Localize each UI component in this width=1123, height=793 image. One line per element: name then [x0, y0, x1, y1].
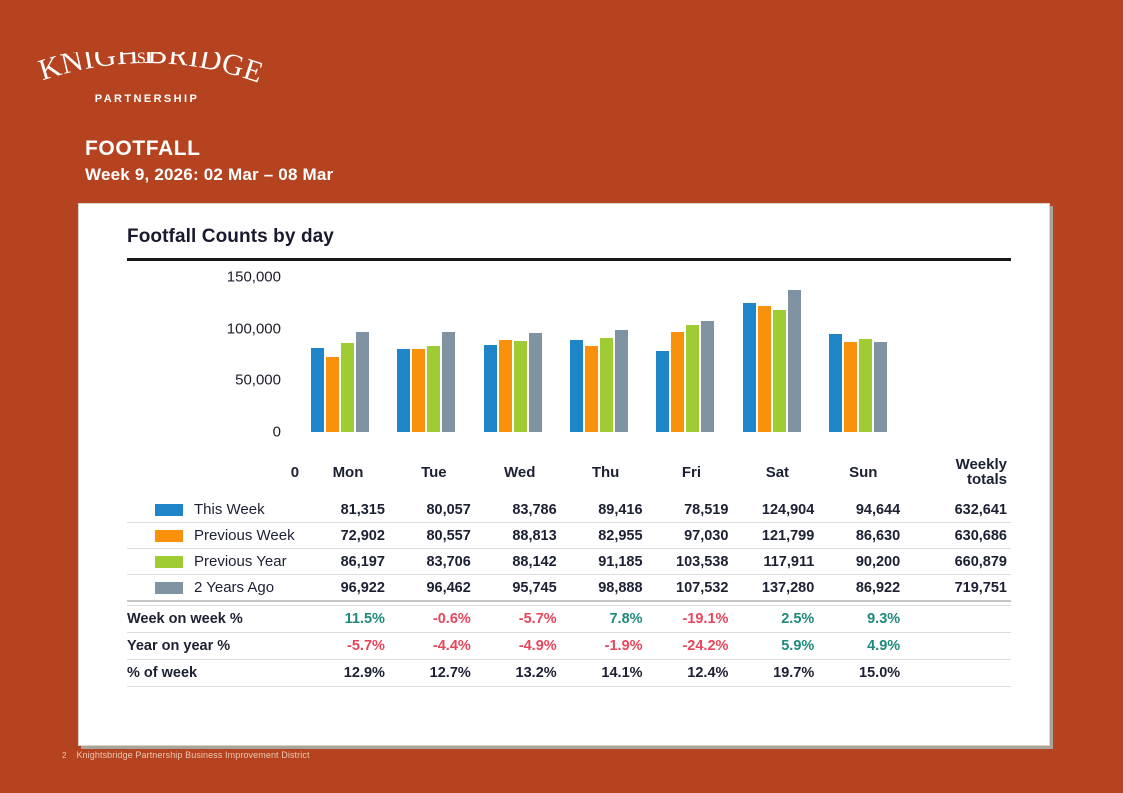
table-cell: 82,955: [563, 523, 649, 549]
column-header-thu: Thu: [563, 457, 649, 497]
table-cell-total: [906, 606, 1011, 633]
table-row: Week on week %11.5%-0.6%-5.7%7.8%-19.1%2…: [127, 606, 1011, 633]
table-cell: 2.5%: [734, 606, 820, 633]
table-cell: 9.3%: [820, 606, 906, 633]
page-title: FOOTFALL: [85, 136, 333, 162]
table-row: 2 Years Ago96,92296,46295,74598,888107,5…: [127, 575, 1011, 602]
svg-text:PARTNERSHIP: PARTNERSHIP: [95, 93, 199, 105]
table-header: 0MonTueWedThuFriSatSunWeeklytotals: [127, 457, 1011, 497]
page-subtitle: Week 9, 2026: 02 Mar – 08 Mar: [85, 163, 333, 187]
y-axis-tick: 0: [273, 424, 281, 441]
bar: [514, 341, 527, 432]
bar-group: [470, 277, 556, 432]
metric-label: Week on week %: [127, 606, 305, 633]
bar: [859, 339, 872, 432]
bar: [686, 325, 699, 432]
table-cell: 83,706: [391, 549, 477, 575]
column-header-mon: Mon: [305, 457, 391, 497]
legend-swatch-icon: [155, 556, 183, 568]
table-cell: 72,902: [305, 523, 391, 549]
table-bottom-rule: [127, 687, 1011, 692]
legend-label: This Week: [194, 501, 265, 518]
table-cell: 121,799: [734, 523, 820, 549]
legend-label: Previous Year: [194, 553, 287, 570]
bar-group: [383, 277, 469, 432]
legend-swatch-icon: [155, 582, 183, 594]
slide-heading: FOOTFALL Week 9, 2026: 02 Mar – 08 Mar: [85, 136, 333, 187]
table-cell: 90,200: [820, 549, 906, 575]
bar: [356, 332, 369, 432]
chart-title-rule: [127, 258, 1011, 261]
column-header-sat: Sat: [734, 457, 820, 497]
table-cell: 86,922: [820, 575, 906, 602]
table-cell: -4.4%: [391, 633, 477, 660]
column-header-weekly-totals: Weeklytotals: [906, 457, 1011, 497]
table-cell-total: 719,751: [906, 575, 1011, 602]
table-row: Previous Year86,19783,70688,14291,185103…: [127, 549, 1011, 575]
bar: [671, 332, 684, 432]
legend-label: 2 Years Ago: [194, 579, 274, 596]
bar: [743, 303, 756, 432]
table-row: Year on year %-5.7%-4.4%-4.9%-1.9%-24.2%…: [127, 633, 1011, 660]
bar: [844, 342, 857, 432]
bar: [412, 349, 425, 432]
table-cell: 96,922: [305, 575, 391, 602]
table-cell: 12.9%: [305, 660, 391, 687]
bar-group: [297, 277, 383, 432]
table-cell: -24.2%: [649, 633, 735, 660]
table-cell: 103,538: [649, 549, 735, 575]
table-cell: 95,745: [477, 575, 563, 602]
bar: [326, 357, 339, 432]
table-cell-total: [906, 660, 1011, 687]
table-cell: 88,813: [477, 523, 563, 549]
table-cell: 12.7%: [391, 660, 477, 687]
table-cell: -0.6%: [391, 606, 477, 633]
table-cell: -5.7%: [305, 633, 391, 660]
chart-title: Footfall Counts by day: [127, 226, 1011, 248]
y-axis-tick: 150,000: [227, 269, 281, 286]
table-row: Previous Week72,90280,55788,81382,95597,…: [127, 523, 1011, 549]
bar: [656, 351, 669, 432]
table-cell: 89,416: [563, 497, 649, 523]
table-cell: -5.7%: [477, 606, 563, 633]
bar: [570, 340, 583, 432]
slide-number: 2: [62, 751, 66, 760]
table-cell: 137,280: [734, 575, 820, 602]
table-cell: 97,030: [649, 523, 735, 549]
bar: [442, 332, 455, 432]
legend-swatch-icon: [155, 530, 183, 542]
bar-group: [728, 277, 814, 432]
bar: [484, 345, 497, 432]
table-cell: 12.4%: [649, 660, 735, 687]
bar: [600, 338, 613, 432]
bar: [701, 321, 714, 432]
table-header-row: 0MonTueWedThuFriSatSunWeeklytotals: [127, 457, 1011, 497]
svg-text:S: S: [137, 52, 146, 67]
bar: [758, 306, 771, 432]
table-cell: 96,462: [391, 575, 477, 602]
table-cell-total: 660,879: [906, 549, 1011, 575]
column-header-sun: Sun: [820, 457, 906, 497]
table-cell: 81,315: [305, 497, 391, 523]
legend-entry: 2 Years Ago: [127, 575, 305, 602]
table-cell: -4.9%: [477, 633, 563, 660]
bar-group: [556, 277, 642, 432]
table-cell: 83,786: [477, 497, 563, 523]
table-cell-total: [906, 633, 1011, 660]
bar: [615, 330, 628, 432]
plot-area: [297, 277, 901, 432]
column-header-fri: Fri: [649, 457, 735, 497]
table-cell: 124,904: [734, 497, 820, 523]
table-cell: 7.8%: [563, 606, 649, 633]
table-cell: 78,519: [649, 497, 735, 523]
column-header-wed: Wed: [477, 457, 563, 497]
table-cell: 80,057: [391, 497, 477, 523]
footfall-bar-chart: 050,000100,000150,000: [127, 277, 1011, 457]
table-row: % of week12.9%12.7%13.2%14.1%12.4%19.7%1…: [127, 660, 1011, 687]
legend-entry: Previous Year: [127, 549, 305, 575]
table-cell: 80,557: [391, 523, 477, 549]
table-cell: 107,532: [649, 575, 735, 602]
bar: [788, 290, 801, 432]
legend-entry: Previous Week: [127, 523, 305, 549]
axis-zero-label: 0: [127, 457, 305, 497]
table-cell: 98,888: [563, 575, 649, 602]
legend-entry: This Week: [127, 497, 305, 523]
table-cell: 86,630: [820, 523, 906, 549]
table-cell: 94,644: [820, 497, 906, 523]
bar: [341, 343, 354, 432]
y-axis-tick: 100,000: [227, 320, 281, 337]
table-cell: 19.7%: [734, 660, 820, 687]
footer-text: Knightsbridge Partnership Business Impro…: [76, 750, 309, 760]
svg-text:BRIDGE: BRIDGE: [147, 52, 262, 90]
legend-label: Previous Week: [194, 527, 295, 544]
table-cell: 117,911: [734, 549, 820, 575]
legend-swatch-icon: [155, 504, 183, 516]
table-cell: 11.5%: [305, 606, 391, 633]
table-cell-total: 630,686: [906, 523, 1011, 549]
metric-label: % of week: [127, 660, 305, 687]
y-axis: 050,000100,000150,000: [127, 277, 287, 432]
table-cell: 4.9%: [820, 633, 906, 660]
brand-logo: KNIGHT S BRIDGE PARTNERSHIP: [32, 52, 262, 108]
table-cell: -19.1%: [649, 606, 735, 633]
bar: [529, 333, 542, 432]
table-cell: 86,197: [305, 549, 391, 575]
metric-label: Year on year %: [127, 633, 305, 660]
bar: [773, 310, 786, 432]
table-row: This Week81,31580,05783,78689,41678,5191…: [127, 497, 1011, 523]
bar: [585, 346, 598, 432]
bar: [829, 334, 842, 432]
column-header-tue: Tue: [391, 457, 477, 497]
bottom-rule-cell: [127, 687, 1011, 692]
table-cell: 88,142: [477, 549, 563, 575]
bar: [427, 346, 440, 432]
table-cell: -1.9%: [563, 633, 649, 660]
report-panel: Footfall Counts by day 050,000100,000150…: [78, 203, 1050, 746]
bar: [499, 340, 512, 432]
bar: [874, 342, 887, 432]
bar: [311, 348, 324, 432]
table-cell-total: 632,641: [906, 497, 1011, 523]
bar-group: [815, 277, 901, 432]
bar-group: [642, 277, 728, 432]
table-cell: 5.9%: [734, 633, 820, 660]
table-cell: 15.0%: [820, 660, 906, 687]
table-cell: 91,185: [563, 549, 649, 575]
y-axis-tick: 50,000: [235, 372, 281, 389]
table-body: This Week81,31580,05783,78689,41678,5191…: [127, 497, 1011, 691]
bar: [397, 349, 410, 432]
footfall-data-table: 0MonTueWedThuFriSatSunWeeklytotals This …: [127, 457, 1011, 691]
table-cell: 14.1%: [563, 660, 649, 687]
table-cell: 13.2%: [477, 660, 563, 687]
slide-footer: 2 Knightsbridge Partnership Business Imp…: [62, 750, 310, 760]
